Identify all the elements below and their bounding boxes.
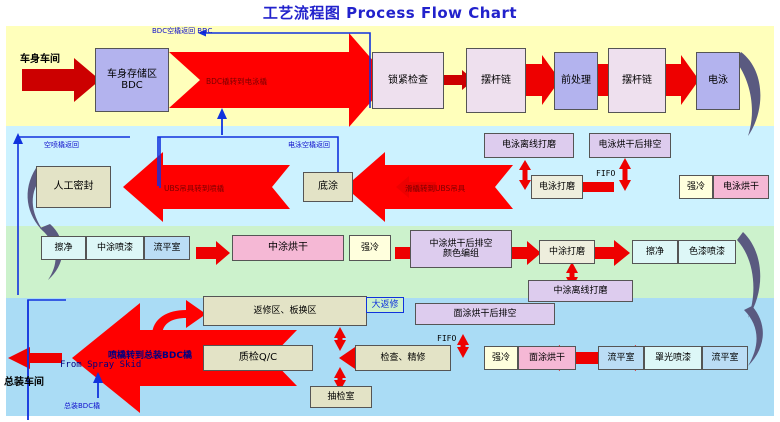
box-clearcoat-spray-label: 罩光喷漆 — [655, 353, 691, 363]
box-primer-bake[interactable]: 中涂烘干 — [232, 235, 344, 261]
label-assembly-bdc-skid: 总装BDC橇 — [64, 401, 100, 411]
box-pendulum-chain-1-label: 摆杆链 — [481, 75, 511, 87]
box-basecoat-spray-label: 色漆喷漆 — [689, 247, 725, 257]
label-body-shop-entry: 车身车间 — [20, 50, 60, 65]
box-flash-off-2[interactable]: 流平室 — [598, 346, 644, 370]
arrow-ecoat-offline-sand-double — [519, 160, 531, 190]
arrow-fifo-vent-double — [619, 158, 631, 191]
label-bdc-empty-skid-return: BDC空橇返回 BDC — [152, 26, 212, 36]
box-pendulum-chain-2[interactable]: 摆杆链 — [608, 48, 666, 113]
label-ecoat-empty-skid-return: 电泳空橇返回 — [288, 140, 330, 150]
box-topcoat-after-bake-vent-label: 面涂烘干后排空 — [453, 309, 516, 319]
box-primer-vent-color-group[interactable]: 中涂烘干后排空 颜色编组 — [410, 230, 512, 268]
box-ecoat-sanding[interactable]: 电泳打磨 — [531, 175, 583, 199]
box-rework-panel-area[interactable]: 返修区、板换区 — [203, 296, 367, 326]
box-pendulum-chain-2-label: 摆杆链 — [622, 75, 652, 87]
box-ecoat-after-bake-vent-label: 电泳烘干后排空 — [598, 140, 661, 150]
box-primer-sanding[interactable]: 中涂打磨 — [539, 240, 595, 264]
box-topcoat-bake-label: 面涂烘干 — [529, 353, 565, 363]
box-undercoat-label: 底涂 — [318, 181, 338, 193]
box-ecoat-bake[interactable]: 电泳烘干 — [713, 175, 769, 199]
process-flow-chart: 工艺流程图 Process Flow Chart — [0, 0, 780, 422]
box-strong-cooling-primer-label: 强冷 — [361, 243, 379, 253]
box-basecoat-spray[interactable]: 色漆喷漆 — [678, 240, 736, 264]
arrow-rework-inspect-double — [334, 327, 346, 351]
box-inspection-finishing-label: 检查、精修 — [380, 353, 425, 363]
box-primer-spray-label: 中涂喷漆 — [97, 243, 133, 253]
box-wipe-clean-1[interactable]: 擦净 — [41, 236, 86, 260]
box-primer-offline-sanding[interactable]: 中涂离线打磨 — [528, 280, 633, 302]
box-body-storage-bdc[interactable]: 车身存储区 BDC — [95, 48, 169, 112]
box-pendulum-chain-1[interactable]: 摆杆链 — [466, 48, 526, 113]
label-ubs-to-spray-skid: UBS吊具转到喷橇 — [164, 183, 224, 194]
box-strong-cooling-ecoat-label: 强冷 — [687, 182, 705, 192]
box-manual-sealing[interactable]: 人工密封 — [36, 166, 111, 208]
box-primer-vent-color-group-label: 中涂烘干后排空 颜色编组 — [429, 239, 492, 260]
box-lock-inspect[interactable]: 锁紧检查 — [372, 52, 444, 109]
box-clearcoat-spray[interactable]: 罩光喷漆 — [644, 346, 702, 370]
box-ecoat-bake-label: 电泳烘干 — [723, 182, 759, 192]
box-flash-off-1-label: 流平室 — [153, 243, 180, 253]
box-wipe-clean-2-label: 擦净 — [646, 247, 664, 257]
box-wipe-clean-2[interactable]: 擦净 — [632, 240, 678, 264]
box-primer-offline-sanding-label: 中涂离线打磨 — [553, 286, 607, 296]
label-fifo-topcoat: FIFO — [437, 334, 456, 343]
box-electrocoat-label: 电泳 — [708, 75, 728, 87]
box-topcoat-bake[interactable]: 面涂烘干 — [518, 346, 576, 370]
box-flash-off-3-label: 流平室 — [711, 353, 738, 363]
label-assembly-shop: 总装车间 — [4, 373, 44, 388]
line-empty-spray-skid-return — [13, 133, 130, 295]
box-sampling-room-label: 抽检室 — [327, 392, 354, 402]
label-skid-to-ubs: 滑橇转到UBS吊具 — [405, 183, 465, 194]
arrow-primer-sand-to-wipe — [595, 240, 630, 266]
label-empty-spray-skid-return: 空喷橇返回 — [44, 140, 79, 150]
box-body-storage-bdc-label: 车身存储区 BDC — [107, 69, 157, 92]
box-flash-off-2-label: 流平室 — [607, 353, 634, 363]
box-wipe-clean-1-label: 擦净 — [54, 243, 72, 253]
box-ecoat-offline-sanding[interactable]: 电泳离线打磨 — [484, 133, 574, 158]
box-big-rework[interactable]: 大返修 — [366, 297, 404, 313]
arrow-bdc-to-ecoat-skid — [169, 33, 390, 127]
box-ecoat-offline-sanding-label: 电泳离线打磨 — [502, 140, 556, 150]
box-strong-cooling-primer[interactable]: 强冷 — [349, 235, 391, 261]
arrow-flow-to-primer-bake — [196, 241, 230, 265]
box-strong-cooling-topcoat-label: 强冷 — [492, 353, 510, 363]
box-big-rework-label: 大返修 — [371, 300, 398, 310]
box-pretreatment-label: 前处理 — [561, 75, 591, 87]
label-bdc-to-ecoat-skid: BDC橇转到电泳橇 — [206, 76, 267, 87]
label-spray-to-assembly-en: From Spray Skid — [60, 360, 141, 370]
arrow-pendulum2-to-ecoat — [665, 55, 699, 105]
box-primer-bake-label: 中涂烘干 — [268, 242, 308, 254]
label-fifo-ecoat: FIFO — [596, 169, 615, 178]
line-feed-row2-to-row1 — [217, 108, 227, 135]
box-topcoat-after-bake-vent[interactable]: 面涂烘干后排空 — [415, 303, 555, 325]
box-pretreatment[interactable]: 前处理 — [554, 52, 598, 110]
box-flash-off-1[interactable]: 流平室 — [144, 236, 190, 260]
box-undercoat[interactable]: 底涂 — [303, 172, 353, 202]
box-flash-off-3[interactable]: 流平室 — [702, 346, 748, 370]
box-ecoat-after-bake-vent[interactable]: 电泳烘干后排空 — [589, 133, 671, 158]
box-strong-cooling-topcoat[interactable]: 强冷 — [484, 346, 518, 370]
box-inspection-finishing[interactable]: 检查、精修 — [355, 345, 451, 371]
box-ecoat-sanding-label: 电泳打磨 — [539, 182, 575, 192]
box-primer-sanding-label: 中涂打磨 — [549, 247, 585, 257]
box-electrocoat[interactable]: 电泳 — [696, 52, 740, 110]
box-sampling-room[interactable]: 抽检室 — [310, 386, 372, 408]
arrow-out-assembly — [8, 347, 62, 369]
arrow-vent-to-primer-sand — [511, 241, 541, 265]
box-rework-panel-area-label: 返修区、板换区 — [253, 306, 316, 316]
box-strong-cooling-ecoat[interactable]: 强冷 — [679, 175, 713, 199]
box-lock-inspect-label: 锁紧检查 — [388, 75, 428, 87]
arrow-fifo-topcoat-double — [457, 334, 469, 358]
box-primer-spray[interactable]: 中涂喷漆 — [86, 236, 144, 260]
box-manual-sealing-label: 人工密封 — [54, 181, 94, 193]
